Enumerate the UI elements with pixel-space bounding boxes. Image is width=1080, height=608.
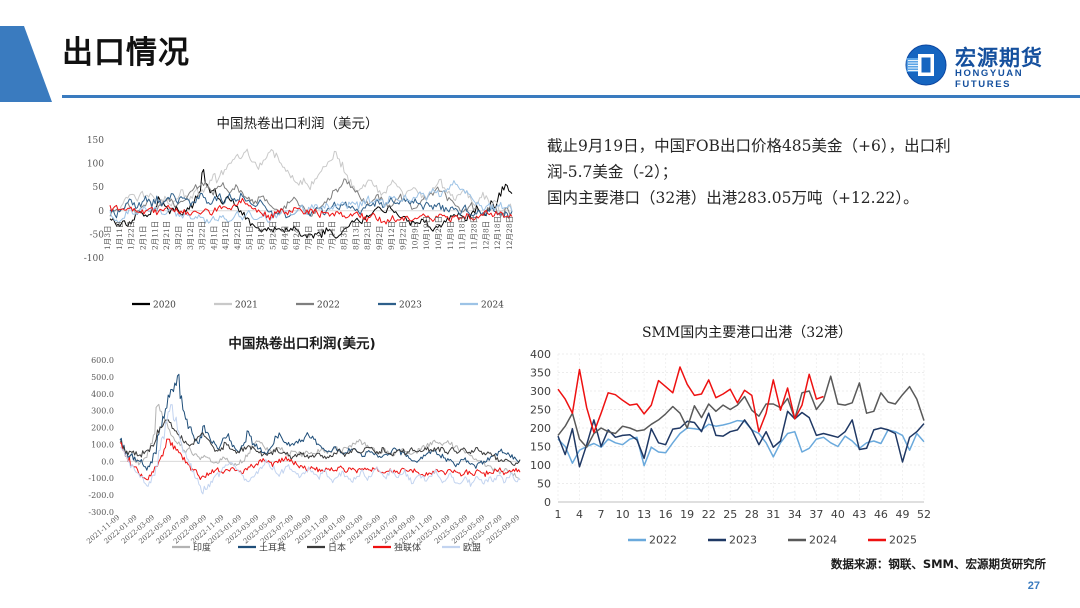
svg-text:100: 100 (530, 459, 551, 472)
chart-hrc-export-profit-by-destination: 中国热卷出口利润(美元) 600.0500.0400.0300.0200.010… (72, 332, 532, 552)
svg-text:0.0: 0.0 (101, 457, 114, 466)
svg-text:2月1日: 2月1日 (138, 225, 147, 250)
svg-text:10: 10 (616, 508, 630, 521)
svg-text:12月28日: 12月28日 (505, 216, 514, 250)
svg-text:11月8日: 11月8日 (446, 221, 455, 250)
svg-text:12月8日: 12月8日 (481, 221, 490, 250)
svg-text:19: 19 (680, 508, 694, 521)
svg-text:-100.0: -100.0 (88, 474, 114, 483)
svg-text:独联体: 独联体 (394, 542, 421, 553)
svg-text:4月12日: 4月12日 (221, 221, 230, 250)
chart1-title: 中国热卷出口利润（美元） (70, 112, 525, 132)
svg-text:8月3日: 8月3日 (339, 225, 348, 250)
svg-text:3月22日: 3月22日 (198, 221, 207, 250)
svg-text:土耳其: 土耳其 (259, 542, 286, 553)
svg-text:2月21日: 2月21日 (162, 221, 171, 250)
svg-text:5月14日: 5月14日 (257, 221, 266, 250)
svg-text:300: 300 (530, 385, 551, 398)
svg-text:46: 46 (874, 508, 888, 521)
chart3-title: SMM国内主要港口出港（32港） (512, 322, 982, 342)
svg-text:13: 13 (637, 508, 651, 521)
svg-text:300.0: 300.0 (91, 407, 114, 416)
svg-text:-100: -100 (84, 254, 104, 264)
svg-text:40: 40 (831, 508, 845, 521)
svg-text:600.0: 600.0 (91, 356, 114, 365)
chart-hrc-export-profit-seasonal: 中国热卷出口利润（美元） 150100500-50-1001月3日1月11日1月… (70, 112, 525, 312)
svg-text:500.0: 500.0 (91, 373, 114, 382)
svg-text:4: 4 (576, 508, 583, 521)
svg-text:2024: 2024 (809, 534, 837, 547)
slide-root: 出口情况 宏源期货 HONGYUAN FUTURES 截止9月19日，中国FOB… (0, 0, 1080, 608)
hongyuan-logo-icon (905, 44, 947, 86)
svg-text:2023: 2023 (399, 301, 422, 311)
logo-text-en: HONGYUAN FUTURES (955, 68, 1073, 90)
svg-text:2022: 2022 (317, 301, 340, 311)
svg-text:日本: 日本 (328, 542, 346, 553)
svg-text:4月22日: 4月22日 (233, 221, 242, 250)
svg-text:1月11日: 1月11日 (115, 221, 124, 250)
svg-text:10月19日: 10月19日 (422, 216, 431, 250)
svg-text:6月4日: 6月4日 (280, 225, 289, 250)
svg-text:350: 350 (530, 367, 551, 380)
svg-text:200: 200 (530, 422, 551, 435)
svg-text:150: 150 (530, 441, 551, 454)
svg-text:9月12日: 9月12日 (387, 221, 396, 250)
svg-text:2022: 2022 (649, 534, 677, 547)
svg-text:200.0: 200.0 (91, 424, 114, 433)
svg-text:5月25日: 5月25日 (269, 221, 278, 250)
svg-text:7月14日: 7月14日 (316, 221, 325, 250)
svg-text:印度: 印度 (193, 542, 211, 553)
svg-text:9月2日: 9月2日 (375, 225, 384, 250)
chart2-canvas: 600.0500.0400.0300.0200.0100.00.0-100.0-… (72, 352, 532, 552)
svg-text:4月1日: 4月1日 (209, 225, 218, 250)
svg-text:52: 52 (917, 508, 931, 521)
summary-line-3: 国内主要港口（32港）出港283.05万吨（+12.22）。 (547, 185, 1017, 211)
svg-text:5月1日: 5月1日 (245, 225, 254, 250)
svg-text:50: 50 (537, 478, 551, 491)
svg-text:34: 34 (788, 508, 802, 521)
svg-text:50: 50 (93, 183, 105, 193)
svg-text:3月12日: 3月12日 (186, 221, 195, 250)
svg-text:2020: 2020 (153, 301, 176, 311)
svg-text:12月18日: 12月18日 (493, 216, 502, 250)
svg-text:100.0: 100.0 (91, 440, 114, 449)
svg-text:8月13日: 8月13日 (351, 221, 360, 250)
svg-text:31: 31 (766, 508, 780, 521)
svg-text:9月22日: 9月22日 (399, 221, 408, 250)
svg-text:37: 37 (809, 508, 823, 521)
svg-text:7月24日: 7月24日 (328, 221, 337, 250)
svg-text:150: 150 (87, 136, 104, 146)
svg-text:2023: 2023 (729, 534, 757, 547)
svg-text:16: 16 (659, 508, 673, 521)
svg-text:欧盟: 欧盟 (463, 542, 481, 553)
summary-line-2: 润-5.7美金（-2）； (547, 159, 1017, 185)
svg-text:1月3日: 1月3日 (103, 225, 112, 250)
svg-text:-300.0: -300.0 (88, 508, 114, 517)
svg-text:2021: 2021 (235, 301, 258, 311)
svg-text:250: 250 (530, 404, 551, 417)
svg-text:3月2日: 3月2日 (174, 225, 183, 250)
svg-text:8月23日: 8月23日 (363, 221, 372, 250)
svg-text:1月22日: 1月22日 (127, 221, 136, 250)
svg-text:400: 400 (530, 348, 551, 361)
svg-text:43: 43 (852, 508, 866, 521)
svg-text:11月28日: 11月28日 (470, 216, 479, 250)
svg-text:0: 0 (98, 207, 104, 217)
svg-text:7月4日: 7月4日 (304, 225, 313, 250)
summary-paragraph: 截止9月19日，中国FOB出口价格485美金（+6），出口利 润-5.7美金（-… (547, 133, 1017, 211)
svg-text:2025: 2025 (889, 534, 917, 547)
svg-text:10月9日: 10月9日 (410, 221, 419, 250)
data-source-note: 数据来源：钢联、SMM、宏源期货研究所 (0, 556, 1046, 572)
svg-text:11月18日: 11月18日 (458, 216, 467, 250)
svg-text:1: 1 (555, 508, 562, 521)
page-title: 出口情况 (62, 33, 190, 73)
svg-text:49: 49 (895, 508, 909, 521)
summary-line-1: 截止9月19日，中国FOB出口价格485美金（+6），出口利 (547, 133, 1017, 159)
svg-text:2024: 2024 (481, 301, 504, 311)
svg-text:7: 7 (598, 508, 605, 521)
chart3-canvas: 4003503002502001501005001471013161922252… (512, 342, 982, 550)
chart-smm-domestic-port-outbound: SMM国内主要港口出港（32港） 40035030025020015010050… (512, 322, 982, 552)
svg-text:6月24日: 6月24日 (292, 221, 301, 250)
svg-text:28: 28 (745, 508, 759, 521)
chart2-title: 中国热卷出口利润(美元) (72, 332, 532, 352)
svg-text:10月29日: 10月29日 (434, 216, 443, 250)
chart1-canvas: 150100500-50-1001月3日1月11日1月22日2月1日2月11日2… (70, 132, 525, 314)
header-divider (62, 95, 1080, 98)
svg-text:0: 0 (544, 496, 551, 509)
svg-text:22: 22 (702, 508, 716, 521)
svg-text:100: 100 (87, 160, 104, 170)
company-logo: 宏源期货 HONGYUAN FUTURES (905, 42, 1073, 90)
svg-text:2月11日: 2月11日 (150, 221, 159, 250)
header-accent-shape (0, 26, 52, 102)
page-number: 27 (0, 580, 1040, 592)
svg-text:400.0: 400.0 (91, 390, 114, 399)
svg-text:-200.0: -200.0 (88, 491, 114, 500)
svg-text:25: 25 (723, 508, 737, 521)
